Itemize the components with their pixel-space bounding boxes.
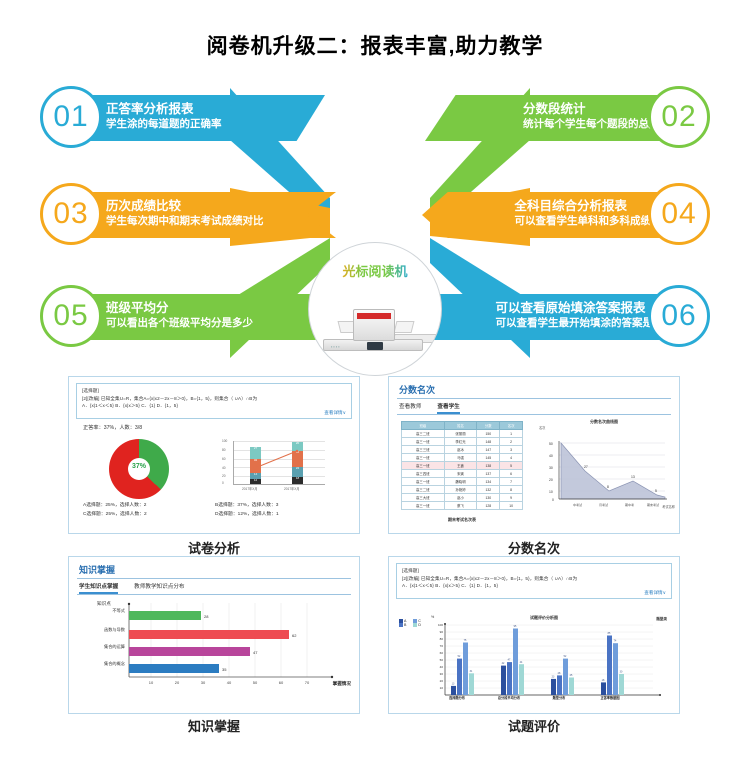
table-cell: 孙艳婷 — [444, 486, 477, 494]
svg-text:10: 10 — [440, 686, 444, 690]
score-rank-heading: 分数名次 — [399, 383, 679, 396]
svg-text:30: 30 — [201, 680, 206, 685]
tab-teacher-knowledge[interactable]: 教师教学知识点分布 — [134, 582, 184, 592]
table-cell: 魏晓明 — [444, 478, 477, 486]
table-row[interactable]: 高三四班宋爽1376 — [402, 470, 523, 478]
svg-text:70: 70 — [440, 644, 444, 648]
table-cell: 5 — [500, 462, 523, 470]
svg-text:28: 28 — [204, 614, 209, 619]
table-cell: 145 — [477, 454, 500, 462]
knowledge-cat-0: 不等式 — [77, 609, 125, 613]
tab-view-student[interactable]: 查看学生 — [437, 402, 459, 414]
svg-text:90: 90 — [440, 630, 444, 634]
feature-item-04[interactable]: 04 全科目综合分析报表 可以查看学生单科和多科成绩报表 — [422, 183, 710, 245]
svg-text:30: 30 — [549, 466, 553, 470]
rank-col-header: 姓名 — [444, 422, 477, 430]
svg-text:中考试: 中考试 — [573, 502, 582, 507]
table-row[interactable]: 高三三班赵冰1473 — [402, 446, 523, 454]
rank-area-chart: 名次 504030 20100 278135 中考试月考试 期中考期末考试 — [539, 427, 671, 515]
feature-number-05: 05 — [40, 285, 102, 347]
screenshot-gallery: [选择题] [2][改编] 已知全集U=R，集合A={x|x2－2x－8＞0}，… — [0, 372, 750, 772]
svg-text:30: 30 — [620, 671, 623, 674]
table-cell: 7 — [500, 478, 523, 486]
knowledge-cat-3: 集合的概念 — [77, 662, 125, 666]
table-cell: 王鑫 — [444, 462, 477, 470]
feature-title-05: 班级平均分 — [106, 301, 253, 317]
legend-item-a: A选择题：25%，选择人数：2 — [83, 501, 215, 510]
feature-sub-01: 学生涂的每道题的正确率 — [106, 118, 222, 132]
svg-text:52: 52 — [458, 655, 461, 658]
table-cell: 高三三班 — [402, 446, 445, 454]
table-cell: 张丽丽 — [444, 430, 477, 438]
table-row[interactable]: 高三一班李红光1482 — [402, 438, 523, 446]
eval-cat-0: 选择题分布 — [437, 695, 477, 700]
feature-item-02[interactable]: 02 分数段统计 统计每个学生每个题段的总成绩 — [425, 86, 710, 148]
svg-text:0: 0 — [552, 498, 554, 502]
table-cell: 9 — [500, 494, 523, 502]
svg-text:40: 40 — [549, 454, 553, 458]
table-cell: 150 — [477, 430, 500, 438]
eval-cat-1: 总分段平均分布 — [487, 695, 531, 700]
table-row[interactable]: 高三一班蔡飞12810 — [402, 502, 523, 510]
legend-label-d: D — [418, 623, 421, 627]
table-cell: 6 — [500, 470, 523, 478]
svg-text:35: 35 — [222, 667, 227, 672]
svg-text:20: 20 — [549, 478, 553, 482]
panel-caption-item-eval: 试题评价 — [388, 716, 680, 735]
svg-text:50: 50 — [440, 658, 444, 662]
svg-text:74: 74 — [614, 640, 617, 643]
table-cell: 2 — [500, 438, 523, 446]
table-cell: 马强 — [444, 454, 477, 462]
table-cell: 134 — [477, 478, 500, 486]
svg-text:8: 8 — [607, 485, 609, 489]
svg-text:42: 42 — [502, 662, 505, 665]
knowledge-bar-chart: 2862 4735 102030 405060 70 — [127, 601, 341, 693]
svg-text:期末考试: 期末考试 — [647, 502, 659, 507]
legend-item-d: D选择题：12%，选择人数：1 — [215, 510, 347, 519]
hub-label: 光标阅读机 — [309, 261, 441, 280]
legend-item-b: B选择题：37%，选择人数：3 — [215, 501, 347, 510]
svg-text:44: 44 — [520, 661, 523, 664]
svg-text:5: 5 — [655, 489, 657, 493]
score-rank-table[interactable]: 班级姓名分数名次 高三二班张丽丽1501高三一班李红光1482高三三班赵冰147… — [401, 421, 523, 510]
view-detail-link-2[interactable]: 查看详情∨ — [402, 590, 666, 596]
svg-text:70: 70 — [305, 680, 310, 685]
knowledge-ylabel: 知识点 — [97, 601, 111, 607]
eval-cat-3: 正答率数据图 — [587, 695, 633, 700]
table-row[interactable]: 高三大班赵小1309 — [402, 494, 523, 502]
knowledge-cat-2: 集合的运算 — [77, 645, 125, 649]
feature-banner-05: 班级平均分 可以看出各个班级平均分是多少 — [88, 294, 331, 340]
svg-text:31: 31 — [470, 670, 473, 673]
svg-text:20: 20 — [440, 679, 444, 683]
table-cell: 3 — [500, 446, 523, 454]
svg-text:10: 10 — [149, 680, 154, 685]
svg-text:50: 50 — [253, 680, 258, 685]
question-box-1: [选择题] [2][改编] 已知全集U=R，集合A={x|x2－2x－8＞0}，… — [76, 383, 352, 419]
svg-text:13: 13 — [452, 683, 455, 686]
legend-swatch-b — [399, 623, 403, 627]
svg-text:月考试: 月考试 — [599, 502, 608, 507]
table-cell: 130 — [477, 494, 500, 502]
feature-banner-03: 历次成绩比较 学生每次期中和期末考试成绩对比 — [88, 192, 336, 238]
table-cell: 蔡飞 — [444, 502, 477, 510]
donut-center-label: 37% — [109, 463, 169, 470]
svg-text:80: 80 — [440, 637, 444, 641]
table-row[interactable]: 高三一班马强1454 — [402, 454, 523, 462]
legend-label-b: B — [404, 623, 406, 627]
feature-banner-04: 全科目综合分析报表 可以查看学生单科和多科成绩报表 — [422, 192, 680, 238]
feature-number-06: 06 — [648, 285, 710, 347]
table-cell: 赵小 — [444, 494, 477, 502]
table-cell: 10 — [500, 502, 523, 510]
table-cell: 8 — [500, 486, 523, 494]
svg-text:30: 30 — [440, 672, 444, 676]
svg-text:95: 95 — [514, 625, 517, 628]
knowledge-tabs[interactable]: 学生知识点掌握教师教学知识点分布 — [79, 582, 359, 594]
tab-view-teacher[interactable]: 查看教师 — [399, 402, 421, 412]
table-cell: 高三一班 — [402, 438, 445, 446]
table-cell: 147 — [477, 446, 500, 454]
question-line1-2: [2][改编] 已知全集U=R，集合A={x|x2－2x－8＞0}，B={1，5… — [402, 575, 666, 583]
question-box-2: [选择题] [2][改编] 已知全集U=R，集合A={x|x2－2x－8＞0}，… — [396, 563, 672, 599]
table-row[interactable]: 高三二班孙艳婷1328 — [402, 486, 523, 494]
center-hub: 光标阅读机 ▪▪▪▪ — [308, 242, 442, 376]
view-detail-link-1[interactable]: 查看详情∨ — [82, 410, 346, 416]
panel-caption-exam-analysis: 试卷分析 — [68, 538, 360, 557]
panel-score-rank[interactable]: 分数名次 查看教师查看学生 班级姓名分数名次 高三二班张丽丽1501高三一班李红… — [388, 376, 680, 534]
question-tag-1: [选择题] — [82, 387, 346, 395]
tab-student-knowledge[interactable]: 学生知识点掌握 — [79, 582, 118, 594]
panel-caption-score-rank: 分数名次 — [388, 538, 680, 557]
panel-caption-knowledge: 知识掌握 — [68, 716, 360, 735]
question-line1-1: [2][改编] 已知全集U=R，集合A={x|x2－2x－8＞0}，B={1，5… — [82, 395, 346, 403]
svg-text:期中考: 期中考 — [625, 502, 634, 507]
feature-title-01: 正答率分析报表 — [106, 102, 222, 118]
svg-text:18: 18 — [602, 679, 605, 682]
table-cell: 高三一班 — [402, 502, 445, 510]
question-line2-2: A．{x|1＜x＜5} B．{x|x＞5} C．{1} D．{1，5} — [402, 582, 666, 590]
panel-exam-analysis[interactable]: [选择题] [2][改编] 已知全集U=R，集合A={x|x2－2x－8＞0}，… — [68, 376, 360, 534]
rank-col-header: 分数 — [477, 422, 500, 430]
svg-text:27: 27 — [584, 465, 588, 469]
svg-text:20: 20 — [175, 680, 180, 685]
feature-banner-01: 正答率分析报表 学生涂的每道题的正确率 — [88, 95, 325, 141]
table-cell: 高三二班 — [402, 430, 445, 438]
table-cell: 高三一班 — [402, 454, 445, 462]
score-rank-table-caption: 期末考试名次表 — [401, 517, 523, 523]
table-row[interactable]: 高三二班张丽丽1501 — [402, 430, 523, 438]
table-cell: 高三大班 — [402, 494, 445, 502]
feature-number-01: 01 — [40, 86, 102, 148]
svg-text:23: 23 — [552, 676, 555, 679]
feature-banner-02: 分数段统计 统计每个学生每个题段的总成绩 — [425, 95, 680, 141]
feature-sub-05: 可以看出各个班级平均分是多少 — [106, 317, 253, 331]
table-cell: 4 — [500, 454, 523, 462]
legend-item-c: C选择题：25%，选择人数：2 — [83, 510, 215, 519]
infographic-section: 01 正答率分析报表 学生涂的每道题的正确率 02 分数段统计 统计每个学生每个… — [0, 78, 750, 368]
table-cell: 138 — [477, 462, 500, 470]
rank-col-header: 名次 — [500, 422, 523, 430]
page-title: 阅卷机升级二：报表丰富,助力教学 — [0, 30, 750, 60]
feature-item-06[interactable]: 06 可以查看原始填涂答案报表 可以查看学生最开始填涂的答案是什么 — [418, 285, 710, 347]
table-row[interactable]: 高三一班魏晓明1347 — [402, 478, 523, 486]
svg-text:60: 60 — [440, 651, 444, 655]
question-line2-1: A．{x|1＜x＜5} B．{x|x＞5} C．{1} D．{1，5} — [82, 402, 346, 410]
knowledge-heading: 知识掌握 — [79, 563, 359, 576]
eval-cat-2: 题型分布 — [539, 695, 579, 700]
table-cell: 赵冰 — [444, 446, 477, 454]
table-cell: 137 — [477, 470, 500, 478]
table-cell: 李红光 — [444, 438, 477, 446]
svg-text:52: 52 — [564, 655, 567, 658]
svg-text:85: 85 — [608, 632, 611, 635]
svg-text:50: 50 — [549, 442, 553, 446]
feature-number-04: 04 — [648, 183, 710, 245]
score-rank-tabs[interactable]: 查看教师查看学生 — [399, 402, 679, 414]
omr-scanner-icon: ▪▪▪▪ — [323, 293, 431, 355]
svg-text:40: 40 — [227, 680, 232, 685]
svg-text:47: 47 — [253, 650, 258, 655]
knowledge-cat-1: 函数与导数 — [77, 628, 125, 632]
table-cell: 高三四班 — [402, 470, 445, 478]
panel-knowledge[interactable]: 知识掌握 学生知识点掌握教师教学知识点分布 知识点 — [68, 556, 360, 714]
svg-text:25: 25 — [570, 674, 573, 677]
table-cell: 宋爽 — [444, 470, 477, 478]
table-cell: 高三二班 — [402, 486, 445, 494]
feature-number-03: 03 — [40, 183, 102, 245]
feature-number-02: 02 — [648, 86, 710, 148]
feature-item-01[interactable]: 01 正答率分析报表 学生涂的每道题的正确率 — [40, 86, 325, 148]
table-cell: 132 — [477, 486, 500, 494]
rank-col-header: 班级 — [402, 422, 445, 430]
question-tag-2: [选择题] — [402, 567, 666, 575]
svg-text:60: 60 — [279, 680, 284, 685]
feature-item-03[interactable]: 03 历次成绩比较 学生每次期中和期末考试成绩对比 — [40, 183, 330, 245]
svg-text:75: 75 — [464, 639, 467, 642]
panel-item-eval[interactable]: [选择题] [2][改编] 已知全集U=R，集合A={x|x2－2x－8＞0}，… — [388, 556, 680, 714]
svg-text:10: 10 — [549, 490, 553, 494]
rank-chart-ylabel: 名次 — [539, 425, 545, 430]
table-cell: 128 — [477, 502, 500, 510]
rank-chart-xlabel: 考试名称 — [662, 504, 675, 509]
correct-rate-text: 正答率：37%，人数：3/8 — [83, 424, 359, 431]
svg-text:62: 62 — [292, 633, 297, 638]
svg-text:28: 28 — [558, 672, 561, 675]
legend-swatch-d — [413, 623, 417, 627]
svg-text:13: 13 — [631, 475, 635, 479]
eval-chart-ylabel: % — [431, 615, 434, 619]
eval-legend: A C B D — [399, 619, 421, 627]
feature-title-03: 历次成绩比较 — [106, 199, 264, 215]
table-cell: 高三一班 — [402, 462, 445, 470]
feature-sub-03: 学生每次期中和期末考试成绩对比 — [106, 215, 264, 229]
feature-banner-06: 可以查看原始填涂答案报表 可以查看学生最开始填涂的答案是什么 — [418, 294, 680, 340]
table-cell: 1 — [500, 430, 523, 438]
table-cell: 148 — [477, 438, 500, 446]
feature-item-05[interactable]: 05 班级平均分 可以看出各个班级平均分是多少 — [40, 285, 325, 347]
option-legend: A选择题：25%，选择人数：2B选择题：37%，选择人数：3 C选择题：25%，… — [83, 501, 347, 519]
table-cell: 高三一班 — [402, 478, 445, 486]
mini-stacked-chart: 10080 6040 200 27 32 14 12 20 36 22 18 — [219, 441, 327, 495]
svg-text:40: 40 — [440, 665, 444, 669]
rank-chart-title: 分数名次曲线图 — [539, 419, 669, 425]
knowledge-xlabel: 掌握情况 — [333, 681, 351, 687]
svg-text:100: 100 — [438, 623, 443, 627]
table-row[interactable]: 高三一班王鑫1385 — [402, 462, 523, 470]
